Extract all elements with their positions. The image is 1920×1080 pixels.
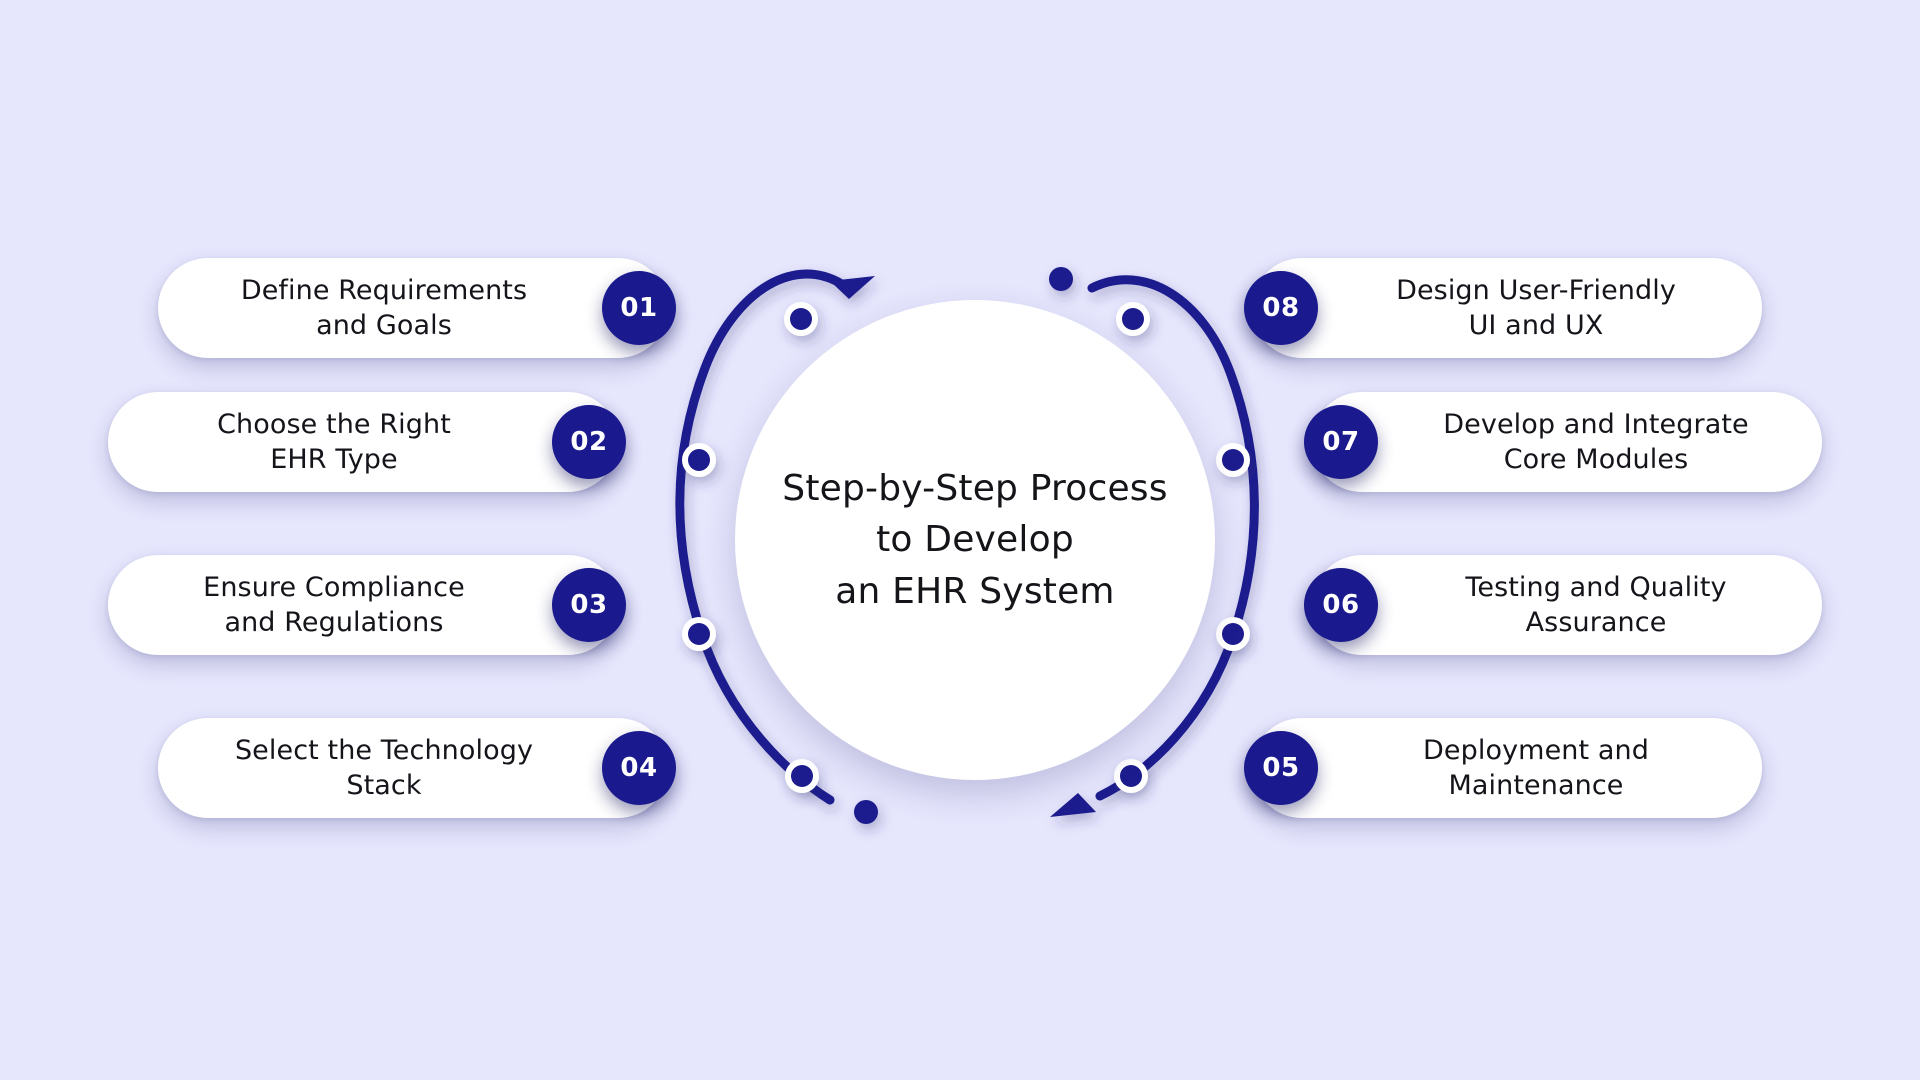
step-card-01[interactable]: Define Requirements and Goals 01	[158, 258, 668, 358]
step-card-06[interactable]: Testing and Quality Assurance 06	[1312, 555, 1822, 655]
infographic-canvas: Step-by-Step Process to Develop an EHR S…	[0, 0, 1920, 1080]
step-label-02: Choose the Right EHR Type	[108, 407, 618, 477]
step-card-03[interactable]: Ensure Compliance and Regulations 03	[108, 555, 618, 655]
step-label-08: Design User-Friendly UI and UX	[1252, 273, 1762, 343]
right-arc-arrowhead-icon	[1050, 793, 1096, 817]
step-label-07: Develop and Integrate Core Modules	[1312, 407, 1822, 477]
step-card-04[interactable]: Select the Technology Stack 04	[158, 718, 668, 818]
center-circle: Step-by-Step Process to Develop an EHR S…	[735, 300, 1215, 780]
step-badge-02: 02	[552, 405, 626, 479]
step-card-08[interactable]: Design User-Friendly UI and UX 08	[1252, 258, 1762, 358]
step-label-05: Deployment and Maintenance	[1252, 733, 1762, 803]
step-badge-06: 06	[1304, 568, 1378, 642]
step-card-07[interactable]: Develop and Integrate Core Modules 07	[1312, 392, 1822, 492]
step-badge-07: 07	[1304, 405, 1378, 479]
step-label-01: Define Requirements and Goals	[158, 273, 668, 343]
step-badge-03: 03	[552, 568, 626, 642]
step-badge-05: 05	[1244, 731, 1318, 805]
step-badge-04: 04	[602, 731, 676, 805]
left-arc-tail-dot	[854, 800, 878, 824]
step-label-03: Ensure Compliance and Regulations	[108, 570, 618, 640]
left-arc-arrowhead-icon	[830, 276, 875, 299]
step-label-04: Select the Technology Stack	[158, 733, 668, 803]
page-title: Step-by-Step Process to Develop an EHR S…	[782, 463, 1167, 616]
step-label-06: Testing and Quality Assurance	[1312, 570, 1822, 640]
step-badge-08: 08	[1244, 271, 1318, 345]
right-arc-tail-dot	[1049, 267, 1073, 291]
step-card-05[interactable]: Deployment and Maintenance 05	[1252, 718, 1762, 818]
step-badge-01: 01	[602, 271, 676, 345]
step-card-02[interactable]: Choose the Right EHR Type 02	[108, 392, 618, 492]
